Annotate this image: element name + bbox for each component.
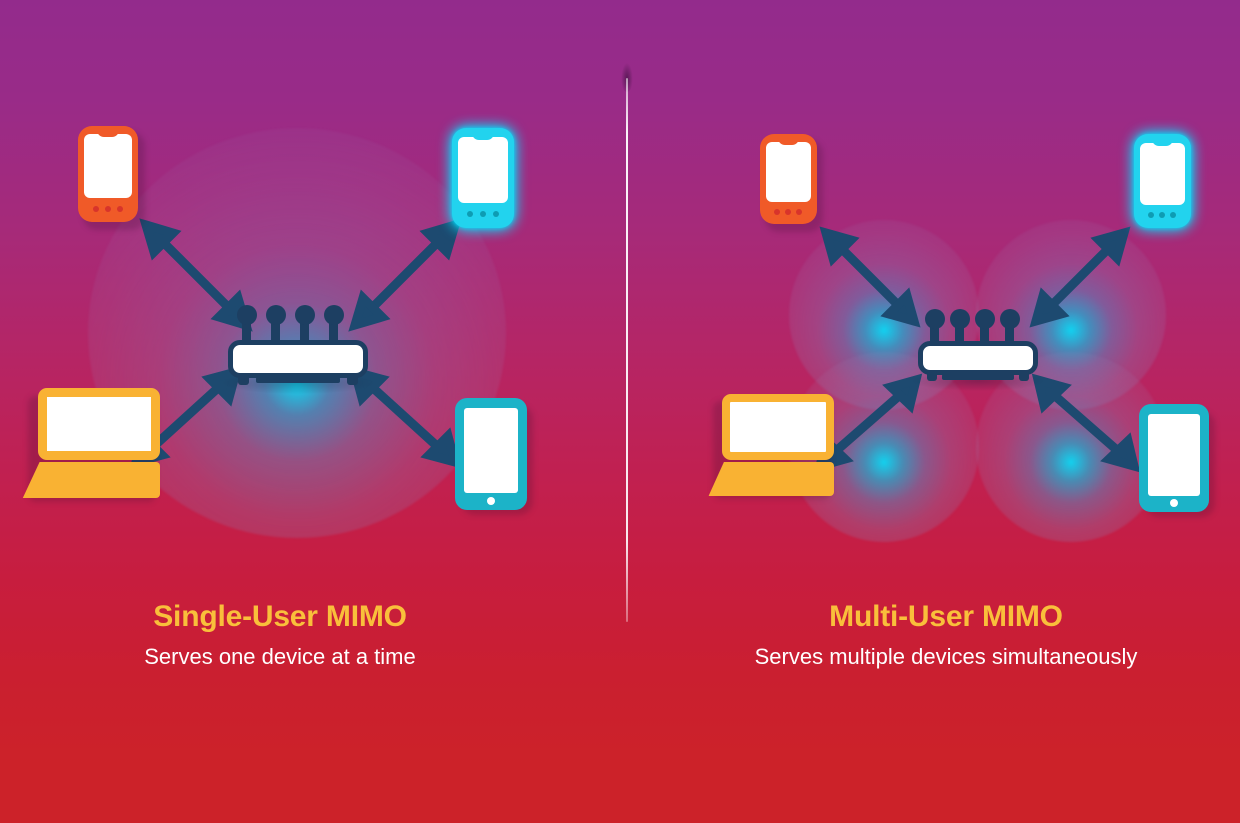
antenna-tip-icon [324,305,344,325]
antenna-tip-icon [975,309,995,329]
router-foot-right [1019,373,1029,381]
phone-notch [97,130,119,137]
caption-single-user-mimo: Single-User MIMO Serves one device at a … [40,600,520,669]
router-base-strip [942,374,1014,380]
antenna-tip-icon [950,309,970,329]
router-base-strip [256,377,340,383]
panel-title: Single-User MIMO [40,600,520,633]
router-body [228,340,368,378]
phone-screen [766,142,811,202]
antenna-tip-icon [295,305,315,325]
link-arrow-router-to-phone-cyan [1036,233,1124,321]
laptop-base [20,462,160,498]
phone-screen [458,137,508,203]
smartphone-cyan[interactable] [1134,134,1191,228]
antenna-tip-icon [266,305,286,325]
panel-subtitle: Serves multiple devices simultaneously [706,644,1186,669]
phone-button-dot [1148,212,1154,218]
router-foot-left [238,376,249,385]
laptop-screen [38,388,160,460]
link-arrow-router-to-tablet [1038,380,1134,466]
caption-multi-user-mimo: Multi-User MIMO Serves multiple devices … [706,600,1186,669]
phone-button-dot [117,206,123,212]
link-arrow-router-to-phone-cyan [355,225,455,325]
laptop-screen [722,394,834,460]
tablet-home-button[interactable] [1170,499,1178,507]
antenna-tip-icon [925,309,945,329]
phone-button-dot [93,206,99,212]
phone-screen [84,134,132,198]
laptop-base [706,462,834,496]
phone-button-dot [785,209,791,215]
phone-notch [472,133,494,140]
link-arrow-router-to-phone-orange [826,233,914,321]
phone-screen [1140,143,1185,205]
laptop-yellow[interactable] [706,394,834,496]
laptop-yellow[interactable] [20,388,160,498]
panel-divider [626,78,628,622]
smartphone-cyan[interactable] [452,128,514,228]
wifi-router-multi [918,305,1038,387]
tablet-home-button[interactable] [487,497,495,505]
wifi-router-single [228,300,368,390]
phone-button-dot [1159,212,1165,218]
smartphone-orange[interactable] [760,134,817,224]
smartphone-orange[interactable] [78,126,138,222]
tablet-teal[interactable] [1139,404,1209,512]
tablet-teal[interactable] [455,398,527,510]
phone-button-dot [493,211,499,217]
tablet-screen [1148,414,1200,496]
phone-button-dot [467,211,473,217]
panel-subtitle: Serves one device at a time [40,644,520,669]
link-arrow-router-to-laptop [820,380,916,466]
phone-button-dot [105,206,111,212]
router-foot-left [927,373,937,381]
router-body [918,341,1038,375]
antenna-tip-icon [237,305,257,325]
phone-button-dot [480,211,486,217]
panel-title: Multi-User MIMO [706,600,1186,633]
router-foot-right [347,376,358,385]
phone-button-dot [1170,212,1176,218]
phone-button-dot [774,209,780,215]
phone-button-dot [796,209,802,215]
tablet-screen [464,408,518,493]
infographic-canvas: Single-User MIMO Serves one device at a … [0,0,1240,823]
antenna-tip-icon [1000,309,1020,329]
